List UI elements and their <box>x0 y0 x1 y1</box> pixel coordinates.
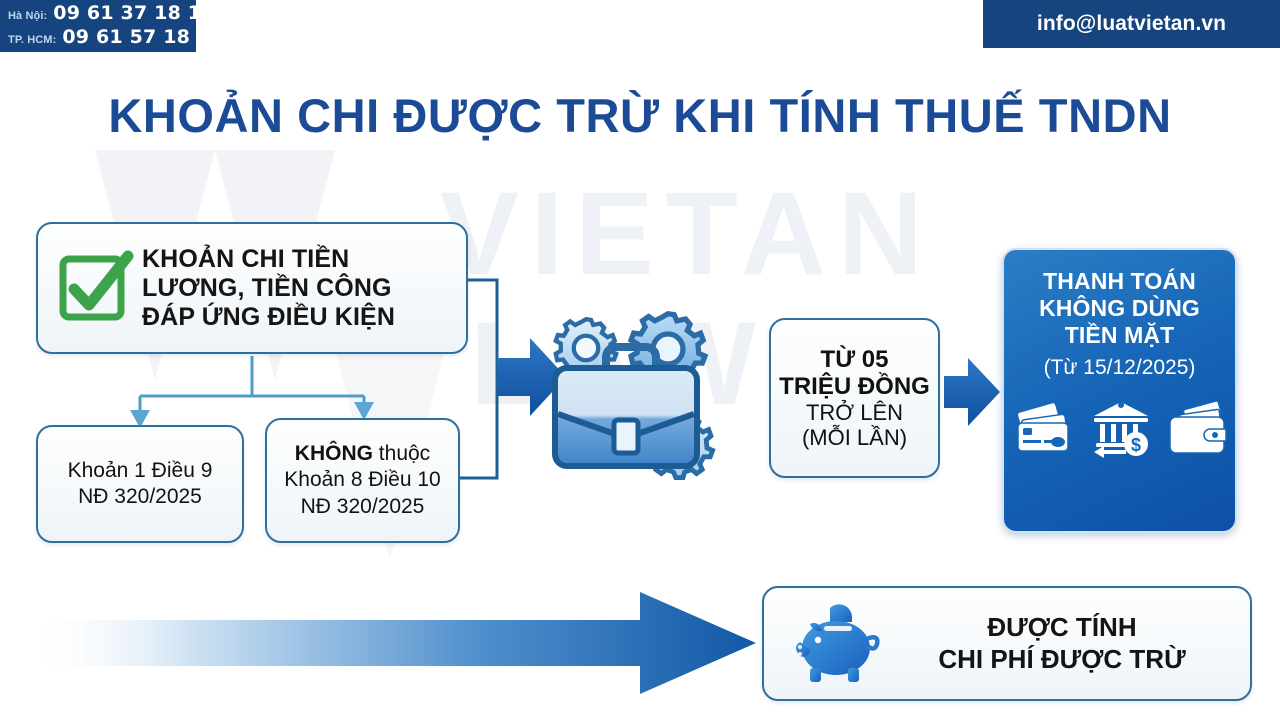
phone-label-hcm: TP. HCM: <box>8 34 56 46</box>
bank-transfer-icon: $ <box>1090 400 1152 463</box>
big-result-arrow <box>28 592 756 694</box>
phone-contact-bar: Hà Nội: 09 61 37 18 18 TP. HCM: 09 61 57… <box>0 0 196 52</box>
phone-number-hcm: 09 61 57 18 18 <box>62 26 223 48</box>
phone-label-hanoi: Hà Nội: <box>8 10 47 22</box>
deductible-result-box: ĐƯỢC TÍNH CHI PHÍ ĐƯỢC TRỪ <box>762 586 1252 701</box>
amount-line4: (MỖI LẦN) <box>802 425 907 450</box>
amount-line2: TRIỆU ĐỒNG <box>779 373 930 400</box>
cashless-panel-title: THANH TOÁN KHÔNG DÙNG TIỀN MẶT <box>1039 268 1200 349</box>
phone-row-hanoi: Hà Nội: 09 61 37 18 18 <box>8 2 190 26</box>
amount-line3: TRỞ LÊN <box>806 400 903 425</box>
arrow-to-cashless <box>944 358 1000 426</box>
green-check-icon <box>54 247 136 329</box>
condition-right-line3: NĐ 320/2025 <box>301 494 425 520</box>
phone-number-hanoi: 09 61 37 18 18 <box>53 2 214 24</box>
email-badge: info@luatvietan.vn <box>983 0 1280 48</box>
page-title: KHOẢN CHI ĐƯỢC TRỪ KHI TÍNH THUẾ TNDN <box>0 88 1280 143</box>
condition-right-line2: Khoản 8 Điều 10 <box>284 467 440 493</box>
infographic-canvas: VIETAN LAW Hà Nội: 09 61 37 18 18 TP. HC… <box>0 0 1280 720</box>
svg-text:$: $ <box>1130 435 1140 455</box>
cashless-payment-panel: THANH TOÁN KHÔNG DÙNG TIỀN MẶT (Từ 15/12… <box>1002 248 1237 533</box>
condition-right-rest: thuộc <box>373 442 430 465</box>
briefcase-gears-icon <box>528 296 733 501</box>
salary-expense-label: KHOẢN CHI TIỀN LƯƠNG, TIỀN CÔNG ĐÁP ỨNG … <box>142 245 395 332</box>
salary-expense-box: KHOẢN CHI TIỀN LƯƠNG, TIỀN CÔNG ĐÁP ỨNG … <box>36 222 468 354</box>
email-text: info@luatvietan.vn <box>1037 12 1226 36</box>
phone-row-hcm: TP. HCM: 09 61 57 18 18 <box>8 26 190 50</box>
cashless-panel-subtitle: (Từ 15/12/2025) <box>1044 356 1196 380</box>
deductible-result-label: ĐƯỢC TÍNH CHI PHÍ ĐƯỢC TRỪ <box>890 612 1250 674</box>
condition-right-line1: KHÔNG thuộc <box>295 441 430 467</box>
condition-left-line2: NĐ 320/2025 <box>78 484 202 510</box>
condition-left-line1: Khoản 1 Điều 9 <box>68 458 213 484</box>
condition-box-right: KHÔNG thuộc Khoản 8 Điều 10 NĐ 320/2025 <box>265 418 460 543</box>
amount-threshold-box: TỪ 05 TRIỆU ĐỒNG TRỞ LÊN (MỖI LẦN) <box>769 318 940 478</box>
piggy-bank-icon <box>786 602 890 686</box>
watermark-vietan: VIETAN <box>440 180 935 289</box>
condition-box-left: Khoản 1 Điều 9 NĐ 320/2025 <box>36 425 244 543</box>
credit-cards-icon <box>1012 401 1076 462</box>
condition-right-emphasis: KHÔNG <box>295 442 373 465</box>
amount-line1: TỪ 05 <box>821 346 889 373</box>
wallet-icon <box>1166 401 1228 462</box>
